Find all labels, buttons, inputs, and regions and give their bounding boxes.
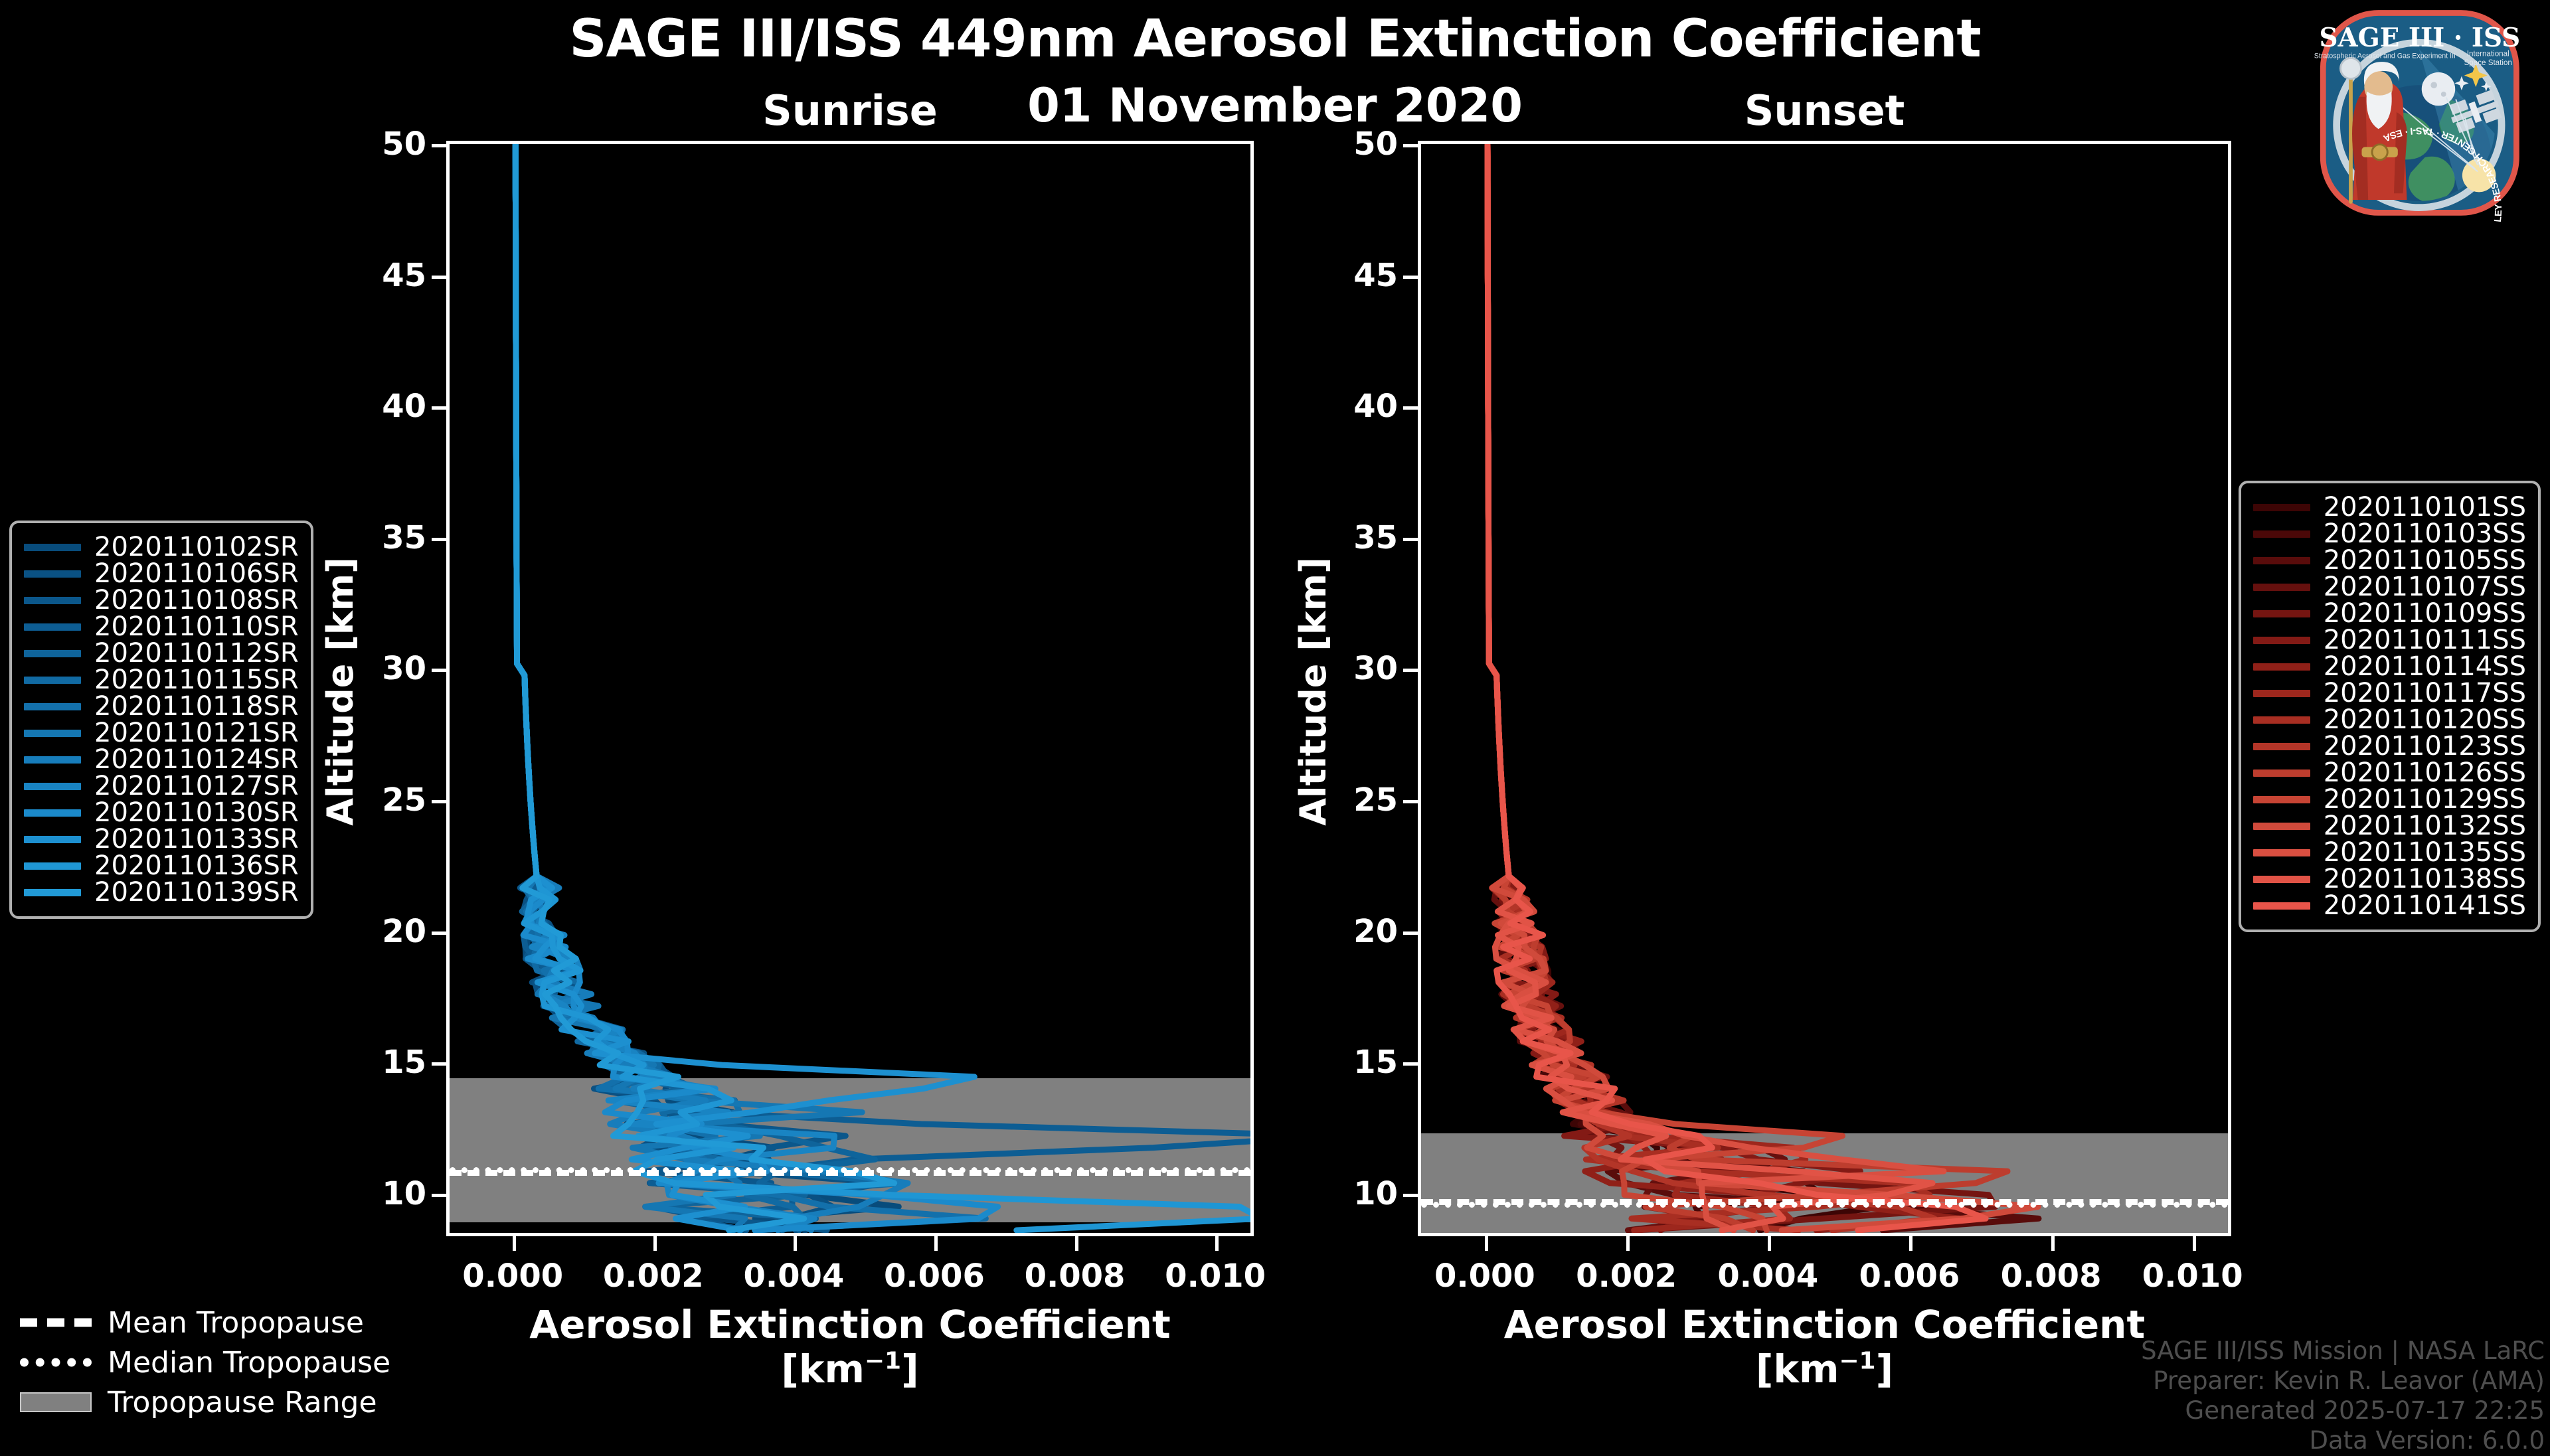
legend-color-swatch — [2253, 637, 2310, 644]
legend-item[interactable]: 2020110111SS — [2253, 627, 2526, 653]
y-axis-tick-mark — [432, 276, 446, 279]
y-axis-tick-label: 15 — [1312, 1044, 1398, 1081]
legend-color-swatch — [2253, 743, 2310, 750]
x-axis-tick-label: 0.006 — [884, 1257, 985, 1295]
y-axis-tick-mark — [1403, 1194, 1418, 1197]
x-axis-tick-label: 0.004 — [1717, 1257, 1818, 1295]
band-swatch-icon — [20, 1391, 92, 1414]
sunrise-panel-title: Sunrise — [446, 86, 1254, 135]
y-axis-tick-mark — [1403, 669, 1418, 672]
x-axis-tick-label: 0.006 — [1859, 1257, 1960, 1295]
legend-item[interactable]: 2020110103SS — [2253, 521, 2526, 547]
x-axis-tick-mark — [1485, 1236, 1488, 1251]
x-axis-tick-label: 0.010 — [2142, 1257, 2243, 1295]
x-axis-tick-mark — [1215, 1236, 1219, 1251]
sunset-profile-curves — [1421, 144, 2228, 1233]
legend-item-label: 2020110139SR — [94, 877, 299, 908]
x-axis-tick-mark — [653, 1236, 657, 1251]
legend-item[interactable]: 2020110110SR — [24, 613, 299, 640]
sunset-plot-panel — [1418, 141, 2231, 1236]
sunset-panel-title: Sunset — [1418, 86, 2231, 135]
legend-color-swatch — [24, 597, 81, 604]
sunrise-x-axis-label: Aerosol Extinction Coefficient [km−1] — [446, 1303, 1254, 1391]
legend-item[interactable]: 2020110130SR — [24, 799, 299, 826]
legend-color-swatch — [24, 650, 81, 657]
y-axis-tick-label: 45 — [1312, 257, 1398, 294]
y-axis-tick-label: 10 — [1312, 1175, 1398, 1212]
y-axis-tick-label: 50 — [1312, 125, 1398, 163]
legend-item[interactable]: 2020110112SR — [24, 640, 299, 667]
y-axis-tick-label: 20 — [340, 913, 426, 950]
legend-item[interactable]: 2020110105SS — [2253, 547, 2526, 574]
series-line — [515, 144, 905, 1230]
legend-color-swatch — [24, 703, 81, 710]
series-line — [515, 144, 894, 1230]
legend-color-swatch — [2253, 716, 2310, 724]
sage-iii-iss-mission-patch-logo: SAGE III · ISS Stratospheric Aerosol and… — [2286, 3, 2546, 222]
legend-color-swatch — [2253, 902, 2310, 910]
series-line — [515, 144, 908, 1230]
legend-item[interactable]: 2020110127SR — [24, 773, 299, 799]
legend-color-swatch — [24, 623, 81, 631]
y-axis-tick-mark — [1403, 406, 1418, 410]
legend-item[interactable]: 2020110117SS — [2253, 680, 2526, 706]
legend-color-swatch — [24, 544, 81, 551]
x-axis-tick-label: 0.000 — [462, 1257, 563, 1295]
x-axis-tick-mark — [2193, 1236, 2196, 1251]
y-axis-tick-mark — [1403, 800, 1418, 803]
y-axis-tick-label: 10 — [340, 1175, 426, 1212]
legend-color-swatch — [24, 809, 81, 817]
logo-subtitle-left: Stratospheric Aerosol and Gas Experiment… — [2314, 52, 2456, 60]
y-axis-tick-mark — [1403, 931, 1418, 935]
y-axis-tick-mark — [432, 144, 446, 147]
legend-item[interactable]: 2020110106SR — [24, 560, 299, 587]
y-axis-tick-mark — [1403, 538, 1418, 541]
x-axis-tick-mark — [2051, 1236, 2055, 1251]
sunset-x-axis-label: Aerosol Extinction Coefficient [km−1] — [1418, 1303, 2231, 1391]
legend-item[interactable]: 2020110141SS — [2253, 892, 2526, 919]
legend-item[interactable]: 2020110114SS — [2253, 653, 2526, 680]
sunrise-series-legend[interactable]: 2020110102SR2020110106SR2020110108SR2020… — [9, 521, 313, 919]
legend-label-tropopause-range: Tropopause Range — [108, 1386, 377, 1419]
legend-color-swatch — [2253, 504, 2310, 511]
credit-line-preparer: Preparer: Kevin R. Leavor (AMA) — [2141, 1366, 2545, 1396]
credit-line-generated: Generated 2025-07-17 22:25 — [2141, 1396, 2545, 1425]
y-axis-tick-label: 50 — [340, 125, 426, 163]
y-axis-tick-mark — [1403, 144, 1418, 147]
y-axis-tick-label: 20 — [1312, 913, 1398, 950]
x-axis-tick-mark — [1075, 1236, 1078, 1251]
legend-item[interactable]: 2020110129SS — [2253, 786, 2526, 813]
legend-item-label: 2020110141SS — [2324, 890, 2526, 921]
y-axis-tick-label: 35 — [1312, 519, 1398, 556]
median-tropopause-line — [1421, 1202, 2228, 1208]
legend-color-swatch — [2253, 610, 2310, 617]
legend-item[interactable]: 2020110132SS — [2253, 813, 2526, 839]
legend-color-swatch — [24, 889, 81, 896]
legend-color-swatch — [24, 730, 81, 737]
y-axis-tick-mark — [432, 1062, 446, 1066]
logo-title: SAGE III · ISS — [2319, 23, 2520, 53]
credit-line-mission: SAGE III/ISS Mission | NASA LaRC — [2141, 1336, 2545, 1366]
dashed-line-icon — [20, 1311, 92, 1334]
logo-subtitle-right-1: International — [2467, 50, 2509, 58]
legend-item[interactable]: 2020110138SS — [2253, 866, 2526, 892]
legend-item[interactable]: 2020110126SS — [2253, 760, 2526, 786]
y-axis-tick-mark — [432, 1194, 446, 1197]
mission-patch-svg: SAGE III · ISS Stratospheric Aerosol and… — [2286, 3, 2546, 222]
legend-color-swatch — [24, 756, 81, 764]
legend-color-swatch — [2253, 796, 2310, 803]
y-axis-tick-mark — [432, 800, 446, 803]
sunrise-plot-panel — [446, 141, 1254, 1236]
legend-item[interactable]: 2020110136SR — [24, 852, 299, 879]
x-axis-units: [km−1] — [781, 1346, 918, 1392]
legend-item[interactable]: 2020110139SR — [24, 879, 299, 906]
credit-block: SAGE III/ISS Mission | NASA LaRC Prepare… — [2141, 1336, 2545, 1456]
legend-color-swatch — [24, 783, 81, 790]
x-axis-tick-mark — [1909, 1236, 1912, 1251]
legend-item-mean-tropopause[interactable]: Mean Tropopause — [20, 1303, 390, 1342]
sunset-plot-area — [1421, 144, 2228, 1233]
x-axis-tick-mark — [1768, 1236, 1771, 1251]
credit-line-version: Data Version: 6.0.0 — [2141, 1425, 2545, 1455]
dotted-line-icon — [20, 1351, 92, 1374]
sunset-y-axis-label: Altitude [km] — [1292, 557, 1334, 826]
legend-color-swatch — [24, 570, 81, 578]
x-axis-tick-label: 0.004 — [743, 1257, 844, 1295]
x-axis-tick-label: 0.000 — [1434, 1257, 1535, 1295]
legend-item[interactable]: 2020110118SR — [24, 693, 299, 720]
y-axis-tick-mark — [1403, 276, 1418, 279]
legend-color-swatch — [24, 862, 81, 870]
legend-color-swatch — [24, 836, 81, 843]
sunrise-profile-curves — [450, 144, 1250, 1233]
legend-item[interactable]: 2020110107SS — [2253, 574, 2526, 600]
page-title: SAGE III/ISS 449nm Aerosol Extinction Co… — [0, 13, 2550, 65]
y-axis-tick-label: 40 — [1312, 388, 1398, 425]
series-line — [515, 144, 898, 1230]
legend-item[interactable]: 2020110120SS — [2253, 706, 2526, 733]
legend-color-swatch — [24, 677, 81, 684]
legend-item[interactable]: 2020110101SS — [2253, 494, 2526, 521]
sunset-series-legend[interactable]: 2020110101SS2020110103SS2020110105SS2020… — [2239, 481, 2541, 932]
logo-subtitle-right-2: Space Station — [2464, 58, 2512, 67]
sunrise-plot-area — [450, 144, 1250, 1233]
x-axis-tick-label: 0.002 — [603, 1257, 704, 1295]
x-axis-label-text: Aerosol Extinction Coefficient — [1504, 1302, 2145, 1347]
legend-color-swatch — [2253, 849, 2310, 856]
legend-item-median-tropopause[interactable]: Median Tropopause — [20, 1342, 390, 1382]
legend-item[interactable]: 2020110109SS — [2253, 600, 2526, 627]
legend-item-tropopause-range[interactable]: Tropopause Range — [20, 1382, 390, 1422]
x-axis-units: [km−1] — [1756, 1346, 1893, 1392]
y-axis-tick-mark — [1403, 1062, 1418, 1066]
y-axis-tick-label: 15 — [340, 1044, 426, 1081]
x-axis-tick-mark — [513, 1236, 516, 1251]
legend-item[interactable]: 2020110123SS — [2253, 733, 2526, 760]
y-axis-tick-label: 35 — [340, 519, 426, 556]
tropopause-legend: Mean Tropopause Median Tropopause Tropop… — [20, 1303, 390, 1422]
y-axis-tick-mark — [432, 931, 446, 935]
legend-label-mean-tropopause: Mean Tropopause — [108, 1306, 364, 1340]
legend-color-swatch — [2253, 584, 2310, 591]
x-axis-tick-label: 0.002 — [1576, 1257, 1677, 1295]
y-axis-tick-label: 45 — [340, 257, 426, 294]
x-axis-tick-label: 0.008 — [2001, 1257, 2102, 1295]
y-axis-tick-mark — [432, 538, 446, 541]
legend-item[interactable]: 2020110115SR — [24, 667, 299, 693]
legend-item[interactable]: 2020110135SS — [2253, 839, 2526, 866]
x-axis-tick-mark — [794, 1236, 797, 1251]
legend-item[interactable]: 2020110102SR — [24, 534, 299, 560]
y-axis-tick-mark — [432, 406, 446, 410]
legend-color-swatch — [2253, 876, 2310, 883]
legend-color-swatch — [2253, 690, 2310, 697]
legend-item[interactable]: 2020110121SR — [24, 720, 299, 746]
x-axis-tick-mark — [1626, 1236, 1630, 1251]
legend-item[interactable]: 2020110133SR — [24, 826, 299, 852]
legend-color-swatch — [2253, 769, 2310, 777]
x-axis-tick-label: 0.008 — [1025, 1257, 1126, 1295]
legend-color-swatch — [2253, 663, 2310, 671]
y-axis-tick-mark — [432, 669, 446, 672]
x-axis-tick-label: 0.010 — [1165, 1257, 1266, 1295]
sunrise-y-axis-label: Altitude [km] — [319, 557, 361, 826]
legend-item[interactable]: 2020110124SR — [24, 746, 299, 773]
x-axis-label-text: Aerosol Extinction Coefficient — [529, 1302, 1170, 1347]
x-axis-tick-mark — [934, 1236, 938, 1251]
y-axis-tick-label: 40 — [340, 388, 426, 425]
median-tropopause-line — [450, 1167, 1250, 1173]
legend-color-swatch — [2253, 823, 2310, 830]
series-line — [515, 144, 974, 1230]
legend-item[interactable]: 2020110108SR — [24, 587, 299, 613]
legend-color-swatch — [2253, 557, 2310, 564]
legend-color-swatch — [2253, 530, 2310, 538]
legend-label-median-tropopause: Median Tropopause — [108, 1346, 390, 1380]
